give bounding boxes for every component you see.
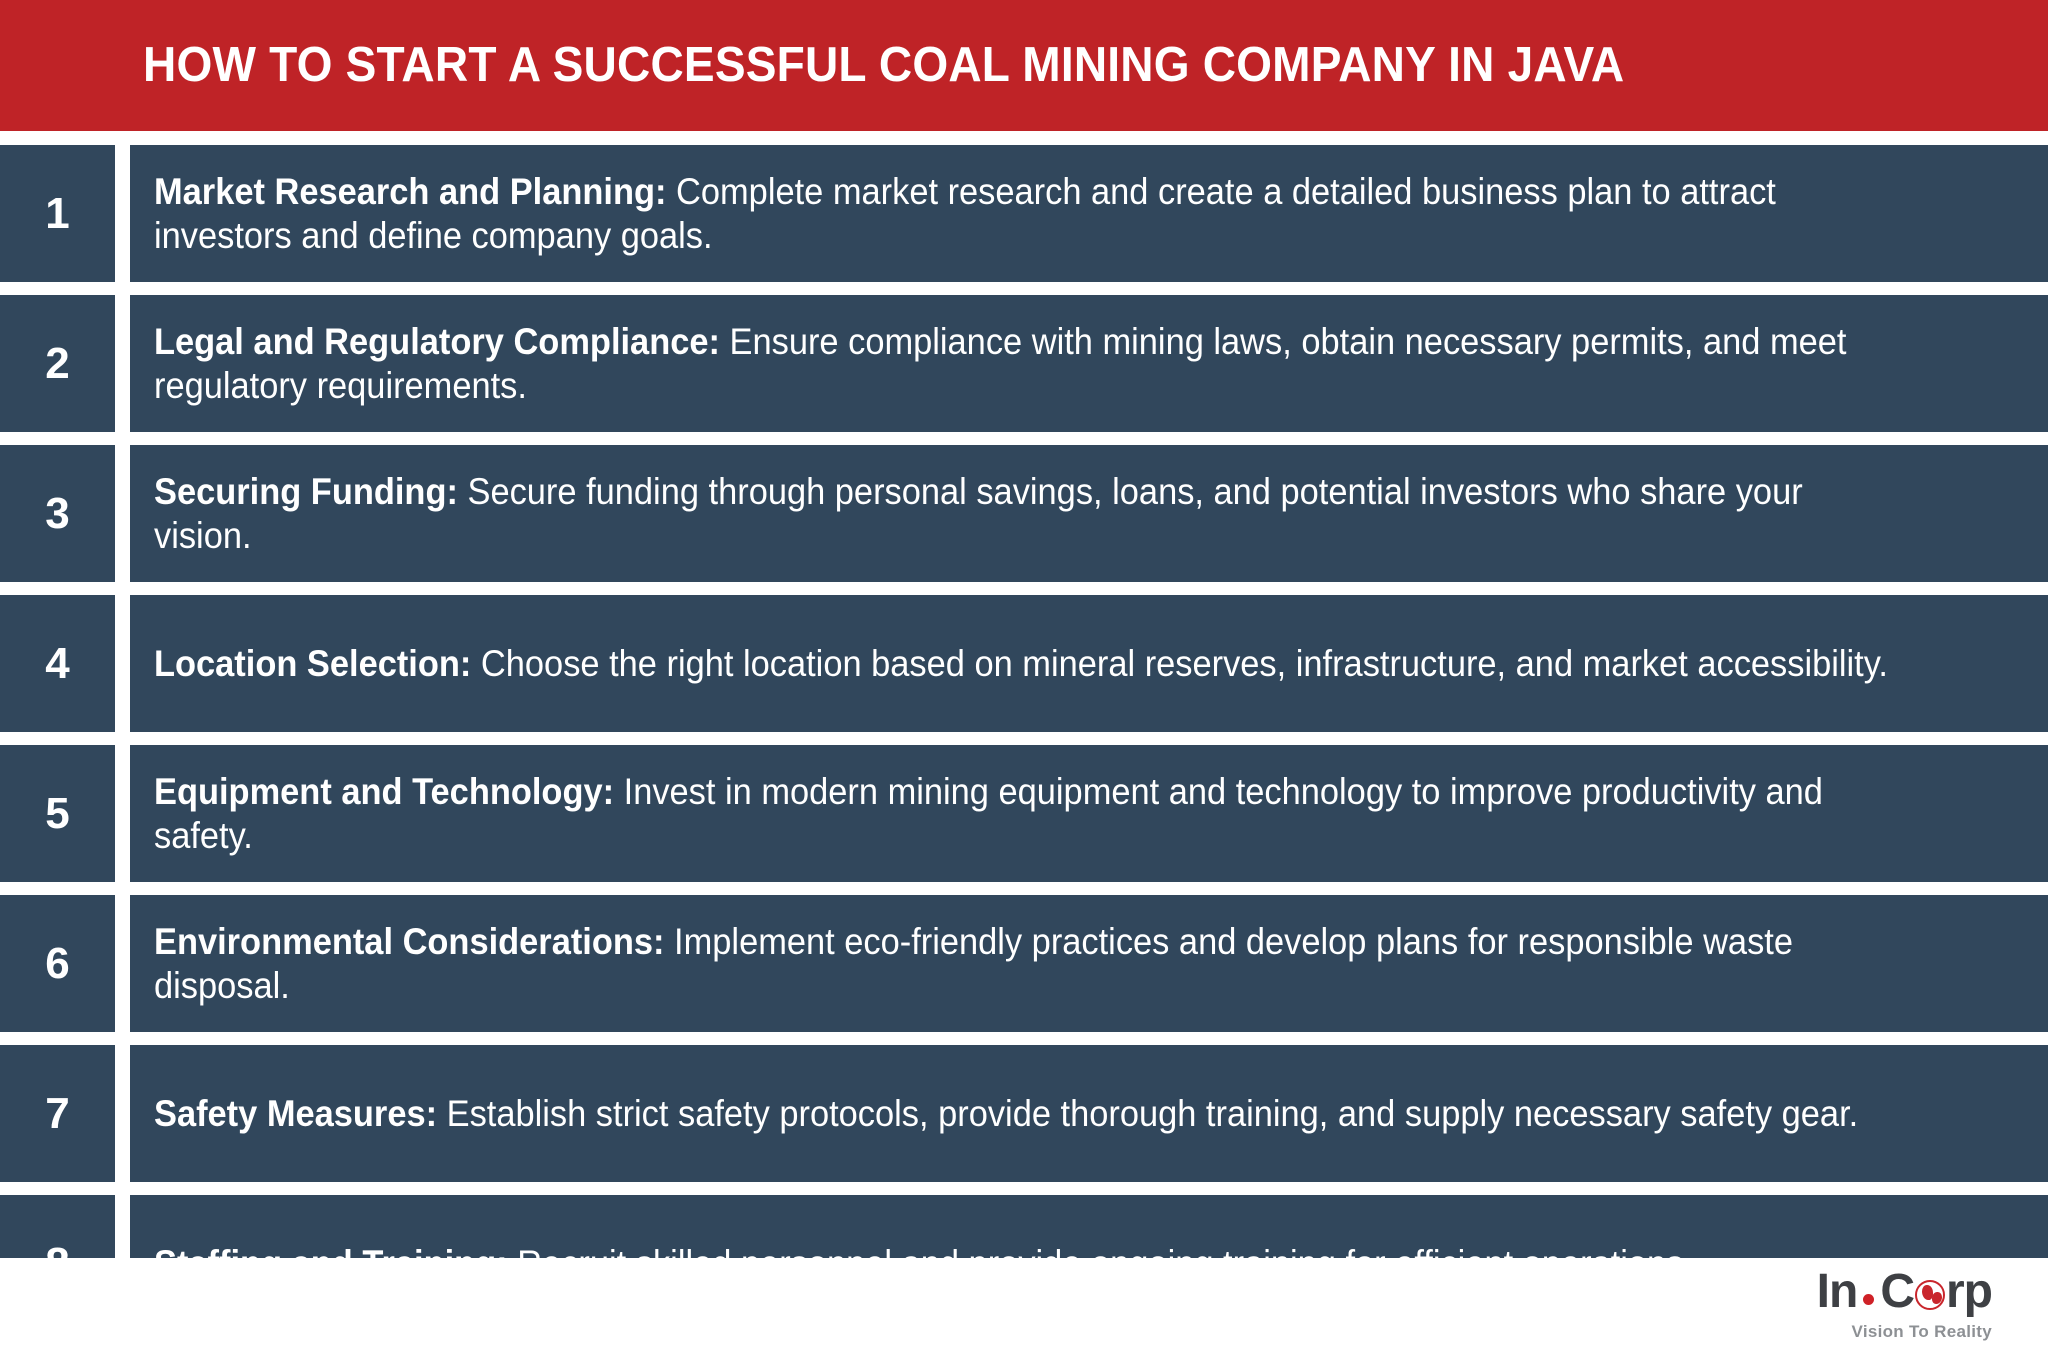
step-divider-gap (115, 295, 130, 432)
logo-text-rp: rp (1946, 1268, 1992, 1316)
step-number: 6 (45, 942, 69, 986)
step-divider-gap (115, 745, 130, 882)
step-text: Legal and Regulatory Compliance: Ensure … (154, 320, 1902, 407)
step-number: 4 (45, 642, 69, 686)
page-footer: In C rp Vision To Reality (0, 1258, 2048, 1360)
step-number-box: 3 (0, 445, 115, 582)
step-number-box: 7 (0, 1045, 115, 1182)
step-text: Environmental Considerations: Implement … (154, 920, 1902, 1007)
step-number: 5 (45, 792, 69, 836)
step-number: 1 (45, 192, 69, 236)
step-content-box: Securing Funding: Secure funding through… (130, 445, 2048, 582)
step-body: Choose the right location based on miner… (471, 643, 1888, 684)
step-text: Market Research and Planning: Complete m… (154, 170, 1902, 257)
step-divider-gap (115, 145, 130, 282)
step-row: 3 Securing Funding: Secure funding throu… (0, 445, 2048, 582)
step-content-box: Safety Measures: Establish strict safety… (130, 1045, 2048, 1182)
step-text: Equipment and Technology: Invest in mode… (154, 770, 1902, 857)
step-row: 7 Safety Measures: Establish strict safe… (0, 1045, 2048, 1182)
step-lead: Legal and Regulatory Compliance: (154, 321, 720, 362)
logo-text-c: C (1880, 1268, 1914, 1316)
step-content-box: Location Selection: Choose the right loc… (130, 595, 2048, 732)
step-lead: Securing Funding: (154, 471, 458, 512)
logo-text-in: In (1817, 1268, 1858, 1316)
step-content-box: Legal and Regulatory Compliance: Ensure … (130, 295, 2048, 432)
step-number-box: 4 (0, 595, 115, 732)
logo-tagline: Vision To Reality (1817, 1322, 1992, 1342)
step-row: 2 Legal and Regulatory Compliance: Ensur… (0, 295, 2048, 432)
step-lead: Market Research and Planning: (154, 171, 666, 212)
step-number-box: 6 (0, 895, 115, 1032)
step-divider-gap (115, 895, 130, 1032)
step-divider-gap (115, 445, 130, 582)
step-divider-gap (115, 595, 130, 732)
step-content-box: Environmental Considerations: Implement … (130, 895, 2048, 1032)
step-text: Safety Measures: Establish strict safety… (154, 1092, 1902, 1135)
step-row: 4 Location Selection: Choose the right l… (0, 595, 2048, 732)
step-row: 6 Environmental Considerations: Implemen… (0, 895, 2048, 1032)
step-divider-gap (115, 1045, 130, 1182)
step-number: 2 (45, 342, 69, 386)
step-body: Establish strict safety protocols, provi… (437, 1093, 1858, 1134)
step-lead: Environmental Considerations: (154, 921, 664, 962)
step-number-box: 2 (0, 295, 115, 432)
step-row: 1 Market Research and Planning: Complete… (0, 145, 2048, 282)
step-content-box: Equipment and Technology: Invest in mode… (130, 745, 2048, 882)
logo-mark: In C rp (1817, 1268, 1992, 1316)
step-number: 7 (45, 1092, 69, 1136)
step-number-box: 5 (0, 745, 115, 882)
step-number: 3 (45, 492, 69, 536)
dot-separator-icon (1863, 1294, 1874, 1305)
step-content-box: Market Research and Planning: Complete m… (130, 145, 2048, 282)
step-row: 5 Equipment and Technology: Invest in mo… (0, 745, 2048, 882)
step-lead: Location Selection: (154, 643, 471, 684)
step-lead: Safety Measures: (154, 1093, 437, 1134)
steps-list: 1 Market Research and Planning: Complete… (0, 131, 2048, 1332)
page-title: HOW TO START A SUCCESSFUL COAL MINING CO… (143, 41, 1624, 90)
step-number-box: 1 (0, 145, 115, 282)
step-lead: Equipment and Technology: (154, 771, 614, 812)
globe-icon (1915, 1280, 1945, 1310)
step-text: Securing Funding: Secure funding through… (154, 470, 1902, 557)
step-text: Location Selection: Choose the right loc… (154, 642, 1902, 685)
page-header: HOW TO START A SUCCESSFUL COAL MINING CO… (0, 0, 2048, 131)
brand-logo: In C rp Vision To Reality (1817, 1268, 1992, 1342)
